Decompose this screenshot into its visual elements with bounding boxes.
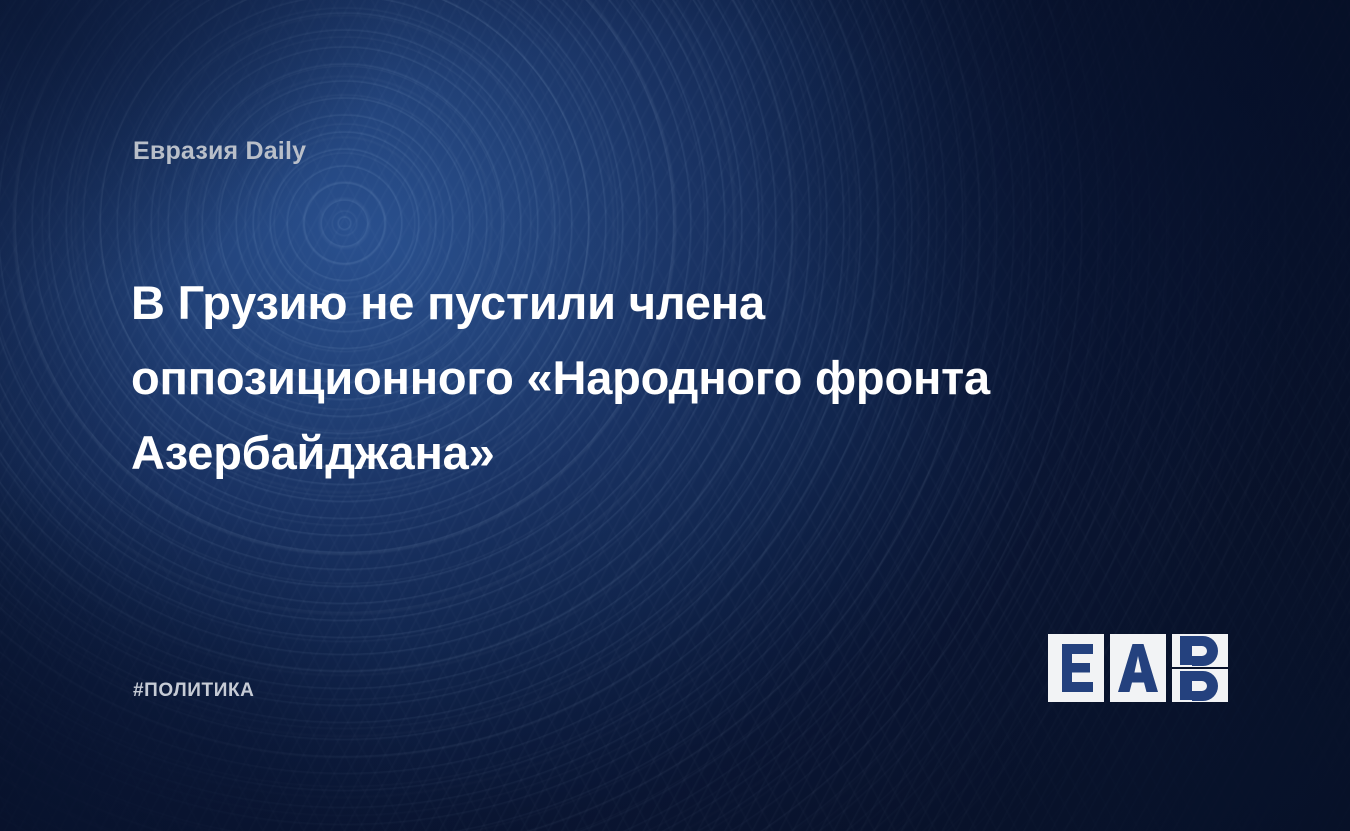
eadaily-logo (1048, 634, 1230, 702)
news-card: Евразия Daily В Грузию не пустили члена … (0, 0, 1350, 831)
category-tag: #ПОЛИТИКА (133, 680, 255, 702)
logo-tile-e (1048, 634, 1104, 702)
logo-tile-a (1110, 634, 1166, 702)
brand-wordmark: Евразия Daily (133, 137, 306, 166)
logo-tile-stack-d (1172, 634, 1228, 702)
letter-d-top-icon (1172, 634, 1228, 667)
letter-e-icon (1048, 634, 1104, 702)
letter-d-bottom-icon (1172, 669, 1228, 702)
card-content: Евразия Daily В Грузию не пустили члена … (0, 0, 1350, 831)
letter-a-icon (1110, 634, 1166, 702)
logo-tile-d-bottom (1172, 669, 1228, 702)
logo-tile-d-top (1172, 634, 1228, 667)
headline-title: В Грузию не пустили члена оппозиционного… (131, 265, 1141, 490)
